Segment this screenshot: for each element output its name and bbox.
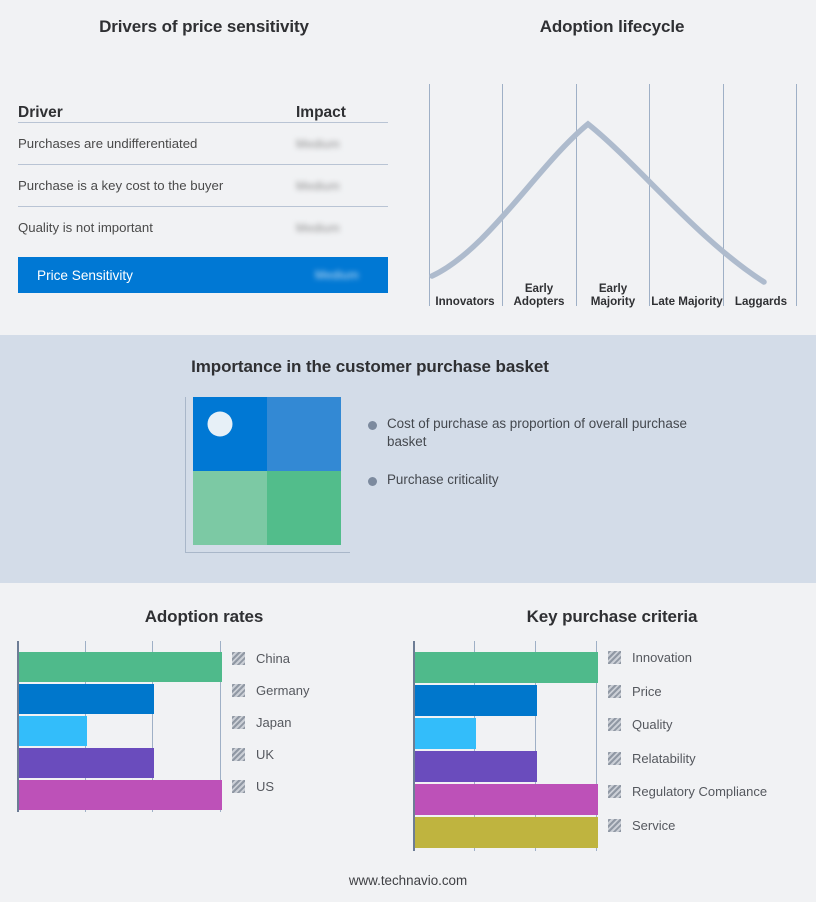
legend-swatch-icon <box>232 652 245 665</box>
legend-item: Purchase criticality <box>368 471 698 489</box>
legend-item: China <box>232 651 290 666</box>
legend-item-label: Service <box>632 818 675 833</box>
bar-service <box>415 817 598 848</box>
bullet-icon <box>368 477 377 486</box>
matrix-y-axis <box>185 397 186 552</box>
adoption-rates-legend: ChinaGermanyJapanUKUS <box>232 645 392 805</box>
legend-item: Service <box>608 818 675 833</box>
table-row: Purchase is a key cost to the buyer Medi… <box>18 164 388 206</box>
matrix-quadrant-top-left <box>193 397 267 471</box>
criteria-bars <box>415 641 598 851</box>
legend-item-label: Relatability <box>632 751 696 766</box>
adoption-rates-title: Adoption rates <box>0 607 408 627</box>
legend-item-label: Cost of purchase as proportion of overal… <box>387 415 698 451</box>
legend-swatch-icon <box>608 819 621 832</box>
adoption-rates-plot <box>17 641 222 812</box>
bar-uk <box>19 748 154 778</box>
lifecycle-stage-early-adopters: Early Adopters <box>502 270 576 310</box>
legend-swatch-icon <box>232 780 245 793</box>
legend-item-label: Germany <box>256 683 309 698</box>
lifecycle-stage-labels: Innovators Early Adopters Early Majority… <box>428 270 798 310</box>
lifecycle-panel: Adoption lifecycle Innovators Early Adop… <box>408 0 816 335</box>
lifecycle-stage-innovators: Innovators <box>428 270 502 310</box>
table-row: Purchases are undifferentiated Medium <box>18 122 388 164</box>
legend-swatch-icon <box>608 752 621 765</box>
footer-url: www.technavio.com <box>0 873 816 888</box>
legend-item-label: UK <box>256 747 274 762</box>
impact-value: Medium <box>296 137 340 151</box>
impact-value-cell: Medium <box>296 177 388 195</box>
bar-relatability <box>415 751 537 782</box>
drivers-panel-title: Drivers of price sensitivity <box>0 17 408 37</box>
importance-legend: Cost of purchase as proportion of overal… <box>368 415 698 509</box>
legend-item: Relatability <box>608 751 696 766</box>
matrix-marker-dot <box>207 411 232 436</box>
summary-row-impact-cell: Medium <box>315 266 388 284</box>
criteria-legend: InnovationPriceQualityRelatabilityRegula… <box>608 644 808 845</box>
driver-label: Quality is not important <box>18 220 296 235</box>
bullet-icon <box>368 421 377 430</box>
legend-swatch-icon <box>232 684 245 697</box>
lifecycle-stage-early-majority: Early Majority <box>576 270 650 310</box>
driver-label: Purchase is a key cost to the buyer <box>18 178 296 193</box>
impact-value-cell: Medium <box>296 219 388 237</box>
lifecycle-chart: Innovators Early Adopters Early Majority… <box>428 80 798 310</box>
legend-item: Regulatory Compliance <box>608 784 767 799</box>
driver-label: Purchases are undifferentiated <box>18 136 296 151</box>
lifecycle-curve-path <box>432 124 764 282</box>
lifecycle-panel-title: Adoption lifecycle <box>408 17 816 37</box>
summary-row-impact: Medium <box>315 268 359 282</box>
bar-regulatory-compliance <box>415 784 598 815</box>
legend-item-label: Price <box>632 684 662 699</box>
legend-item-label: Quality <box>632 717 672 732</box>
legend-item: Germany <box>232 683 309 698</box>
impact-value-cell: Medium <box>296 135 388 153</box>
bar-quality <box>415 718 476 749</box>
legend-swatch-icon <box>232 716 245 729</box>
matrix-quadrants <box>193 397 341 545</box>
legend-item: Quality <box>608 717 672 732</box>
legend-item: Cost of purchase as proportion of overal… <box>368 415 698 451</box>
importance-panel: Importance in the customer purchase bask… <box>0 335 816 583</box>
legend-item: UK <box>232 747 274 762</box>
legend-swatch-icon <box>608 718 621 731</box>
matrix-quadrant-bottom-left <box>193 471 267 545</box>
importance-matrix <box>185 397 350 567</box>
summary-row-label: Price Sensitivity <box>37 268 315 283</box>
lifecycle-stage-late-majority: Late Majority <box>650 270 724 310</box>
criteria-plot <box>413 641 598 851</box>
legend-swatch-icon <box>608 651 621 664</box>
bar-price <box>415 685 537 716</box>
price-sensitivity-summary-row: Price Sensitivity Medium <box>18 257 388 293</box>
legend-item: Japan <box>232 715 291 730</box>
legend-item-label: China <box>256 651 290 666</box>
legend-item-label: US <box>256 779 274 794</box>
legend-item: US <box>232 779 274 794</box>
column-header-impact: Impact <box>296 104 388 122</box>
matrix-quadrant-top-right <box>267 397 341 471</box>
adoption-bars <box>19 641 222 812</box>
bar-china <box>19 652 222 682</box>
adoption-rates-panel: Adoption rates ChinaGermanyJapanUKUS <box>0 583 408 902</box>
bar-japan <box>19 716 87 746</box>
legend-item-label: Regulatory Compliance <box>632 784 767 799</box>
drivers-panel: Drivers of price sensitivity Driver Impa… <box>0 0 408 335</box>
legend-swatch-icon <box>608 685 621 698</box>
legend-item: Innovation <box>608 650 692 665</box>
legend-swatch-icon <box>608 785 621 798</box>
legend-item: Price <box>608 684 662 699</box>
drivers-table: Driver Impact Purchases are undifferenti… <box>18 92 388 293</box>
importance-panel-title: Importance in the customer purchase bask… <box>0 357 740 377</box>
legend-item-label: Innovation <box>632 650 692 665</box>
legend-swatch-icon <box>232 748 245 761</box>
bar-us <box>19 780 222 810</box>
key-purchase-criteria-panel: Key purchase criteria InnovationPriceQua… <box>408 583 816 902</box>
matrix-x-axis <box>185 552 350 553</box>
legend-item-label: Purchase criticality <box>387 471 499 489</box>
impact-value: Medium <box>296 179 340 193</box>
table-row: Quality is not important Medium <box>18 206 388 248</box>
legend-item-label: Japan <box>256 715 291 730</box>
impact-value: Medium <box>296 221 340 235</box>
bar-germany <box>19 684 154 714</box>
drivers-table-header: Driver Impact <box>18 92 388 122</box>
matrix-quadrant-bottom-right <box>267 471 341 545</box>
key-purchase-criteria-title: Key purchase criteria <box>408 607 816 627</box>
lifecycle-stage-laggards: Laggards <box>724 270 798 310</box>
bar-innovation <box>415 652 598 683</box>
column-header-driver: Driver <box>18 104 296 122</box>
